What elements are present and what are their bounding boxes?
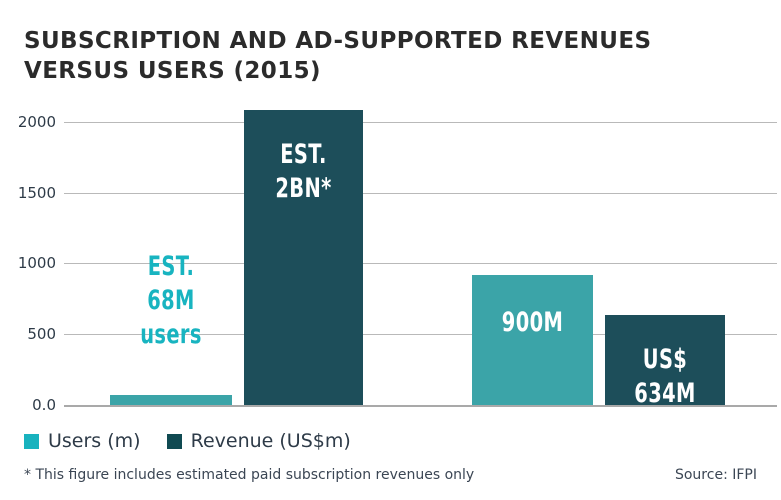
page-title: SUBSCRIPTION AND AD-SUPPORTED REVENUES V…: [24, 26, 764, 86]
bar-label-subscription-users: EST. 68M users: [127, 250, 215, 352]
chart-legend: Users (m) Revenue (US$m): [24, 430, 351, 452]
bar-subscription-users[interactable]: [110, 395, 232, 405]
bar-label-ad-supported-revenue: US$ 634M: [622, 343, 708, 411]
legend-label-users: Users (m): [48, 430, 141, 452]
chart-plot-area: 2000 1500 1000 500 0.0 EST. 68M users ES…: [0, 110, 781, 410]
chart-source: Source: IFPI: [675, 467, 757, 483]
bar-ad-supported-users[interactable]: [472, 275, 593, 405]
bar-label-ad-supported-users: 900M: [489, 306, 576, 340]
bar-label-subscription-revenue: EST. 2BN*: [261, 138, 347, 206]
legend-item-revenue[interactable]: Revenue (US$m): [167, 430, 351, 452]
legend-swatch-users-icon: [24, 434, 39, 449]
chart-footnote: * This figure includes estimated paid su…: [24, 467, 474, 483]
legend-label-revenue: Revenue (US$m): [191, 430, 351, 452]
legend-swatch-revenue-icon: [167, 434, 182, 449]
bars-group: EST. 68M users EST. 2BN* 900M US$ 634M: [0, 110, 781, 410]
legend-item-users[interactable]: Users (m): [24, 430, 141, 452]
